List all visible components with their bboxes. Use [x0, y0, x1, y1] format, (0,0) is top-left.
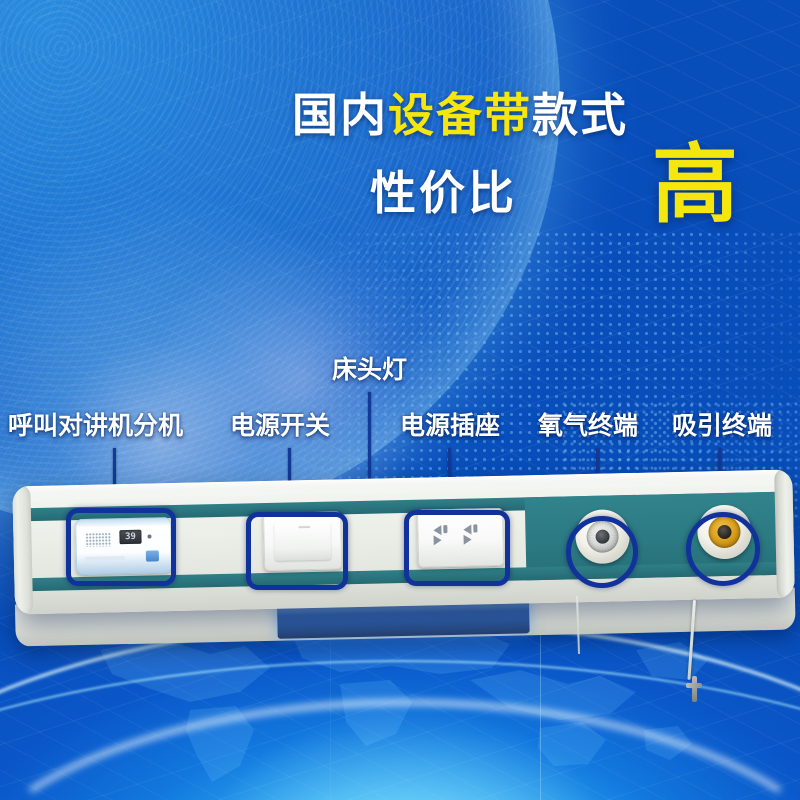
highlight-circle-suction-terminal: [686, 512, 760, 586]
bottom-horizon-glow: [180, 700, 640, 800]
pull-cord-pendant-icon[interactable]: [686, 676, 702, 702]
highlight-box-power-switch: [246, 512, 348, 590]
highlight-box-power-socket: [404, 510, 510, 586]
promo-banner: 国内设备带款式 性价比 高 呼叫对讲机分机 电源开关 床头灯 电源插座 氧气终端…: [0, 0, 800, 800]
panel-end-cap-left: [12, 484, 33, 614]
callout-label-nurse-call-intercom: 呼叫对讲机分机: [8, 414, 183, 439]
callout-label-power-switch: 电源开关: [230, 414, 330, 439]
highlight-box-nurse-call-intercom: [66, 508, 176, 586]
highlight-circle-oxygen-terminal: [566, 516, 638, 588]
panel-end-cap-right: [774, 470, 795, 600]
callout-label-suction-terminal: 吸引终端: [672, 414, 772, 439]
callout-label-bedside-light: 床头灯: [332, 358, 407, 383]
pendant-vertical-bar: [692, 676, 697, 702]
pendant-horizontal-bar: [686, 683, 702, 688]
callout-label-power-socket: 电源插座: [400, 414, 500, 439]
callout-label-oxygen-terminal: 氧气终端: [538, 414, 638, 439]
